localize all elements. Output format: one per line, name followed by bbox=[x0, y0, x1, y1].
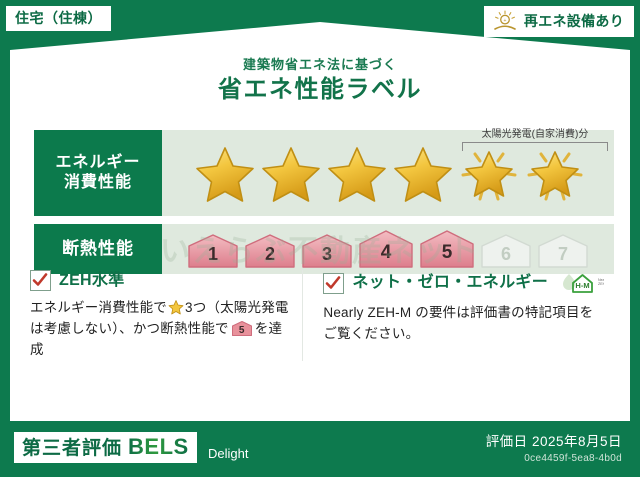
footer-bar: 第三者評価 BELS Delight 評価日 2025年8月5日 0ce4459… bbox=[0, 421, 640, 477]
insulation-label: 断熱性能 bbox=[62, 238, 134, 259]
zeh-standard-body: エネルギー消費性能で3つ（太陽光発電は考慮しない）、かつ断熱性能で5を達成 bbox=[30, 298, 292, 361]
net-zero-energy-title: ネット・ゼロ・エネルギー bbox=[352, 275, 548, 291]
zeh-m-logo-text: H-M bbox=[575, 281, 589, 290]
sun-icon: + bbox=[492, 10, 518, 32]
net-zero-energy-note: ネット・ゼロ・エネルギー H-M Nearly ZEH Nearly ZEH-M bbox=[302, 270, 614, 361]
zeh-standard-note: ZEH水準 エネルギー消費性能で3つ（太陽光発電は考慮しない）、かつ断熱性能で5… bbox=[30, 270, 302, 361]
grade-value: 4 bbox=[381, 243, 392, 270]
net-zero-energy-head: ネット・ゼロ・エネルギー H-M Nearly ZEH bbox=[323, 270, 604, 296]
insulation-value-cell: 1 2 bbox=[162, 224, 614, 274]
zeh-standard-checkbox bbox=[30, 270, 51, 291]
grade-value: 5 bbox=[442, 243, 453, 270]
net-zero-energy-body: Nearly ZEH-M の要件は評価書の特記項目をご覧ください。 bbox=[323, 303, 604, 345]
zeh-body-star-count: 3つ（太陽光発電 bbox=[185, 300, 289, 315]
page-title: 省エネ性能ラベル bbox=[10, 78, 630, 102]
brand-name: Delight bbox=[208, 447, 248, 460]
bels-jp-label: 第三者評価 bbox=[22, 439, 122, 458]
grade-value: 1 bbox=[208, 245, 218, 270]
zeh-m-logo-icon: H-M Nearly ZEH bbox=[560, 270, 604, 296]
star-icon bbox=[260, 142, 322, 204]
star-icon bbox=[194, 142, 256, 204]
insulation-label-cell: 断熱性能 bbox=[34, 224, 162, 274]
star-icon bbox=[326, 142, 388, 204]
zeh-m-logo-sub2: ZEH bbox=[598, 282, 604, 286]
label-card: 建築物省エネ法に基づく 省エネ性能ラベル いえらぶ不動産ネット エネルギー 消費… bbox=[10, 22, 630, 421]
solar-annotation-label: 太陽光発電(自家消費)分 bbox=[462, 129, 608, 140]
insulation-grade-badge-inactive: 7 bbox=[536, 232, 590, 270]
energy-performance-value-cell: 太陽光発電(自家消費)分 bbox=[162, 130, 614, 216]
insulation-grade-badge: 4 bbox=[357, 228, 415, 270]
star-icon-solar bbox=[458, 142, 520, 204]
inline-grade-value: 5 bbox=[231, 326, 253, 336]
insulation-grade-badge: 1 bbox=[186, 232, 240, 270]
inline-star-icon bbox=[168, 299, 184, 315]
renewable-chip-label: 再エネ設備あり bbox=[524, 14, 624, 28]
zeh-body-part1: エネルギー消費性能で bbox=[30, 300, 167, 315]
energy-performance-row: エネルギー 消費性能 bbox=[34, 130, 614, 216]
grade-value: 6 bbox=[501, 245, 511, 270]
zeh-standard-head: ZEH水準 bbox=[30, 270, 292, 291]
zeh-standard-title: ZEH水準 bbox=[59, 273, 125, 289]
house-type-chip: 住宅（住棟） bbox=[6, 6, 111, 31]
energy-label-line1: エネルギー bbox=[55, 153, 140, 173]
star-rating bbox=[190, 142, 586, 204]
grade-value: 2 bbox=[265, 245, 275, 270]
energy-performance-label: 住宅（住棟） + 再エネ設備あり 建築物省エネ法に基づく bbox=[0, 0, 640, 477]
inline-grade-badge-icon: 5 bbox=[231, 320, 253, 337]
renewable-equipment-chip: + 再エネ設備あり bbox=[484, 6, 634, 37]
bels-chip: 第三者評価 BELS bbox=[14, 432, 197, 463]
metric-rows: エネルギー 消費性能 bbox=[34, 130, 614, 282]
title-subtitle: 建築物省エネ法に基づく bbox=[10, 58, 630, 71]
net-zero-energy-checkbox bbox=[323, 273, 344, 294]
insulation-grade-badge: 2 bbox=[243, 232, 297, 270]
star-icon bbox=[392, 142, 454, 204]
zeh-body-part2: は考慮しない）、かつ断熱性能で bbox=[30, 321, 229, 336]
evaluation-id: 0ce4459f-5ea8-4b0d bbox=[524, 454, 622, 464]
evaluation-date: 評価日 2025年8月5日 bbox=[486, 435, 622, 449]
grade-value: 3 bbox=[322, 245, 332, 270]
insulation-performance-row: 断熱性能 1 bbox=[34, 224, 614, 274]
energy-label-line2: 消費性能 bbox=[64, 173, 132, 193]
energy-performance-label-cell: エネルギー 消費性能 bbox=[34, 130, 162, 216]
insulation-grade-scale: 1 2 bbox=[186, 228, 590, 270]
notes-section: ZEH水準 エネルギー消費性能で3つ（太陽光発電は考慮しない）、かつ断熱性能で5… bbox=[30, 270, 614, 361]
house-type-chip-label: 住宅（住棟） bbox=[15, 10, 102, 26]
insulation-grade-badge: 3 bbox=[300, 232, 354, 270]
star-icon-solar bbox=[524, 142, 586, 204]
insulation-grade-badge: 5 bbox=[418, 228, 476, 270]
grade-value: 7 bbox=[558, 245, 568, 270]
title-block: 建築物省エネ法に基づく 省エネ性能ラベル bbox=[10, 58, 630, 102]
svg-text:+: + bbox=[503, 18, 506, 24]
bels-en-label: BELS bbox=[128, 436, 189, 458]
insulation-grade-badge-inactive: 6 bbox=[479, 232, 533, 270]
